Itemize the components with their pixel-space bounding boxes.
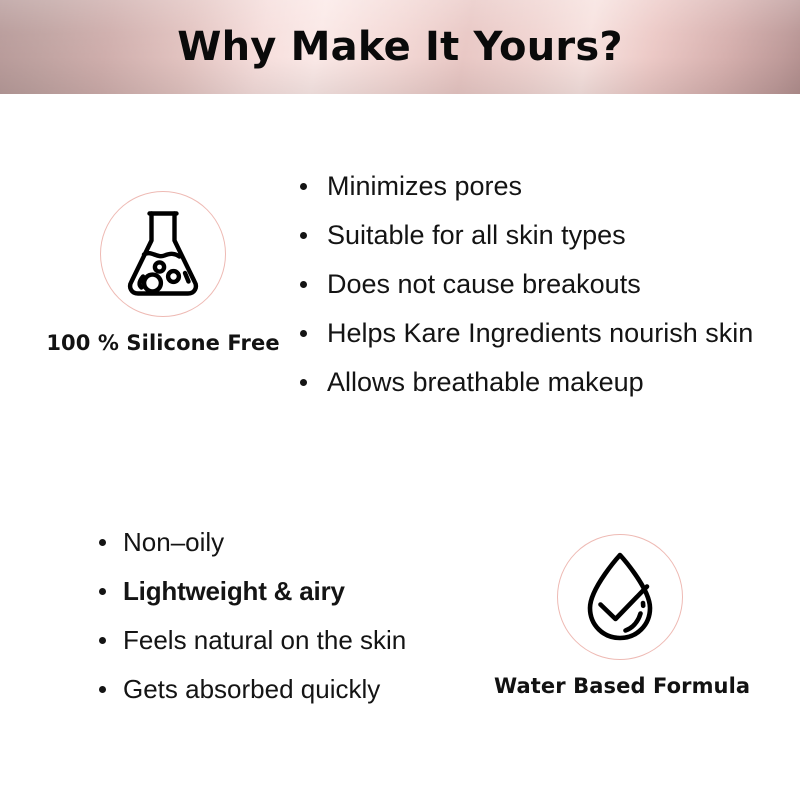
header-banner: Why Make It Yours? [0, 0, 800, 94]
feature-caption-water-based: Water Based Formula [494, 674, 746, 698]
feature-caption-silicone-free: 100 % Silicone Free [37, 331, 289, 355]
list-item-label: Minimizes pores [300, 162, 780, 211]
list-item-label: Helps Kare Ingredients nourish skin [300, 309, 780, 358]
list-item-label: Feels natural on the skin [99, 616, 479, 665]
benefits-list: Minimizes pores Suitable for all skin ty… [300, 162, 780, 407]
page-title: Why Make It Yours? [0, 0, 800, 94]
flask-icon-circle [100, 191, 226, 317]
feature-water-based: Water Based Formula [494, 534, 746, 698]
list-item-label: Lightweight & airy [99, 567, 479, 616]
list-item: Gets absorbed quickly [99, 665, 479, 714]
list-item-label: Does not cause breakouts [300, 260, 780, 309]
bullet-dot-icon [300, 281, 307, 288]
bullet-dot-icon [300, 330, 307, 337]
bullet-dot-icon [300, 183, 307, 190]
flask-icon [117, 207, 209, 301]
list-item: Allows breathable makeup [300, 358, 780, 407]
water-drop-check-icon-circle [557, 534, 683, 660]
bullet-dot-icon [300, 232, 307, 239]
list-item: Non–oily [99, 518, 479, 567]
water-drop-check-icon [577, 549, 663, 645]
list-item: Feels natural on the skin [99, 616, 479, 665]
list-item-label: Suitable for all skin types [300, 211, 780, 260]
feature-silicone-free: 100 % Silicone Free [37, 191, 289, 355]
list-item: Lightweight & airy [99, 567, 479, 616]
feel-list: Non–oily Lightweight & airy Feels natura… [99, 518, 479, 714]
bullet-dot-icon [99, 637, 106, 644]
list-item: Does not cause breakouts [300, 260, 780, 309]
list-item-label: Non–oily [99, 518, 479, 567]
list-item: Suitable for all skin types [300, 211, 780, 260]
bullet-dot-icon [99, 588, 106, 595]
list-item-label: Allows breathable makeup [300, 358, 780, 407]
list-item: Helps Kare Ingredients nourish skin [300, 309, 780, 358]
list-item-label: Gets absorbed quickly [99, 665, 479, 714]
bullet-dot-icon [99, 539, 106, 546]
infographic-root: Why Make It Yours? [0, 0, 800, 800]
bullet-dot-icon [99, 686, 106, 693]
list-item: Minimizes pores [300, 162, 780, 211]
bullet-dot-icon [300, 379, 307, 386]
